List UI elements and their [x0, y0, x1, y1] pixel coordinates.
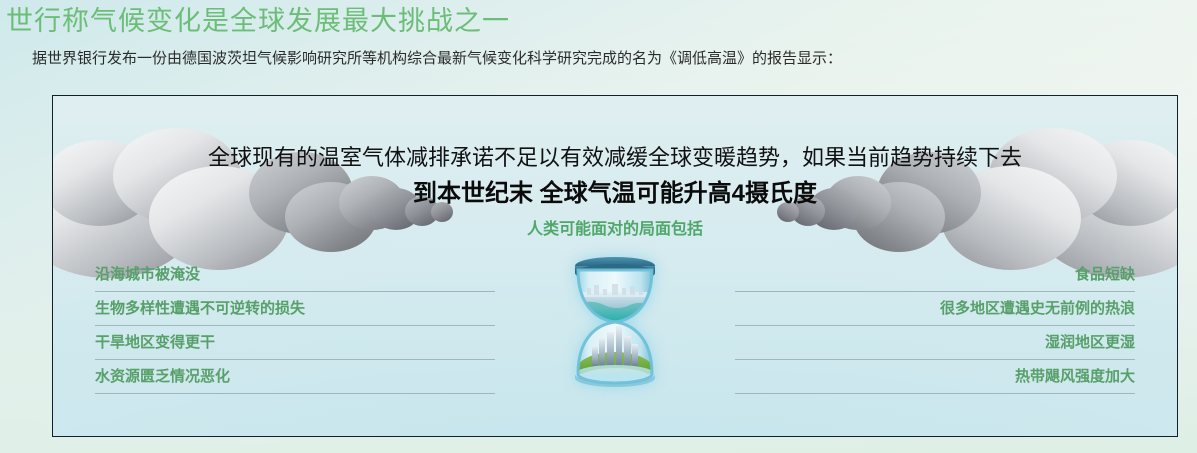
list-item: 很多地区遭遇史无前例的热浪	[735, 292, 1135, 326]
list-item: 干旱地区变得更干	[95, 326, 495, 360]
infographic-panel: 全球现有的温室气体减排承诺不足以有效减缓全球变暖趋势，如果当前趋势持续下去 到本…	[52, 95, 1178, 437]
infographic-canvas: 世行称气候变化是全球发展最大挑战之一 据世界银行发布一份由德国波茨坦气候影响研究…	[0, 0, 1197, 453]
page-title: 世行称气候变化是全球发展最大挑战之一	[6, 4, 510, 38]
statement-line-1: 全球现有的温室气体减排承诺不足以有效减缓全球变暖趋势，如果当前趋势持续下去	[53, 143, 1177, 173]
consequences-list-right: 食品短缺 很多地区遭遇史无前例的热浪 湿润地区更湿 热带飓风强度加大	[735, 258, 1135, 394]
list-item: 食品短缺	[735, 258, 1135, 292]
list-item: 生物多样性遭遇不可逆转的损失	[95, 292, 495, 326]
consequences-subheading: 人类可能面对的局面包括	[53, 219, 1177, 241]
list-item: 沿海城市被淹没	[95, 258, 495, 292]
statement-line-2: 到本世纪末 全球气温可能升高4摄氏度	[53, 178, 1177, 210]
consequences-list-left: 沿海城市被淹没 生物多样性遭遇不可逆转的损失 干旱地区变得更干 水资源匮乏情况恶…	[95, 258, 495, 394]
hourglass-earth-icon	[559, 246, 671, 398]
list-item: 湿润地区更湿	[735, 326, 1135, 360]
list-item: 热带飓风强度加大	[735, 360, 1135, 394]
list-item: 水资源匮乏情况恶化	[95, 360, 495, 394]
lead-paragraph: 据世界银行发布一份由德国波茨坦气候影响研究所等机构综合最新气候变化科学研究完成的…	[32, 48, 842, 70]
